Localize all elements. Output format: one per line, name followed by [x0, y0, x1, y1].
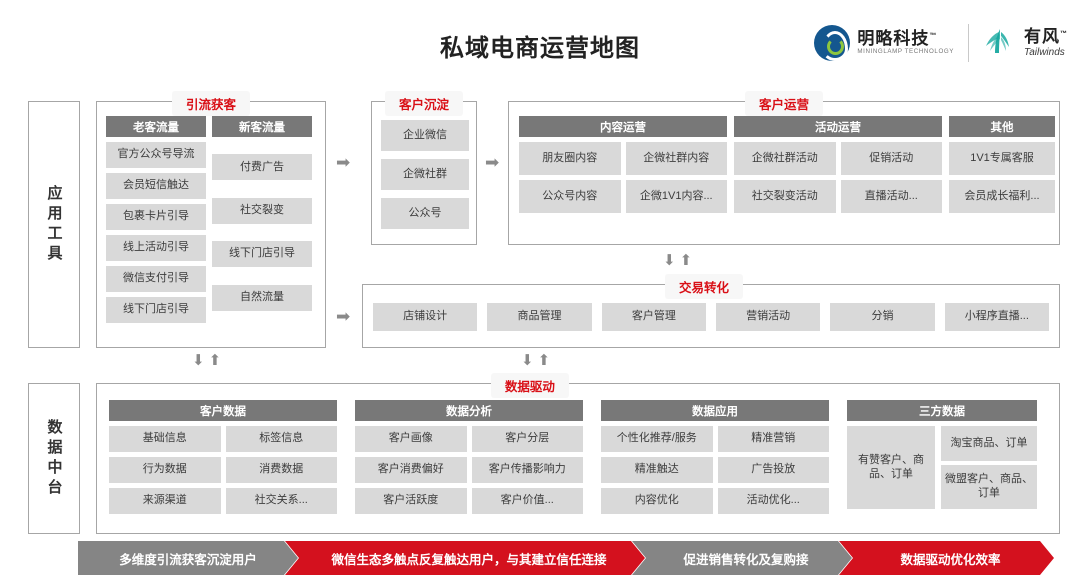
data-item[interactable]: 广告投放 — [718, 457, 830, 483]
row-label-data-text: 数据中台 — [44, 419, 65, 499]
data-item[interactable]: 活动优化... — [718, 488, 830, 514]
arrow-pair-apps-data-left: ⬇ ⬆ — [192, 353, 221, 368]
arrow-pair-apps-data-right: ⬇ ⬆ — [521, 353, 550, 368]
acquisition-item[interactable]: 包裹卡片引导 — [106, 204, 206, 230]
data-item[interactable]: 客户分层 — [472, 426, 584, 452]
data-item[interactable]: 个性化推荐/服务 — [601, 426, 713, 452]
ribbon-step-2[interactable]: 微信生态多触点反复触达用户，与其建立信任连接 — [285, 541, 645, 575]
data-item[interactable]: 客户活跃度 — [355, 488, 467, 514]
panel-transaction: 交易转化 店铺设计 商品管理 客户管理 营销活动 分销 小程序直播... — [362, 284, 1060, 348]
trademark-icon-2: ™ — [1060, 31, 1068, 38]
operation-group-content: 内容运营 朋友圈内容 企微社群内容 公众号内容 企微1V1内容... — [519, 116, 727, 213]
panel-data-driven: 数据驱动 客户数据 基础信息 标签信息 行为数据 消费数据 来源渠道 社交关系.… — [96, 383, 1060, 534]
data-block-application-header: 数据应用 — [601, 400, 829, 421]
acquisition-item[interactable]: 官方公众号导流 — [106, 142, 206, 168]
transaction-item[interactable]: 店铺设计 — [373, 303, 477, 331]
logo-divider — [968, 24, 969, 62]
operation-group-other: 其他 1V1专属客服 会员成长福利... — [949, 116, 1055, 213]
acquisition-item[interactable]: 微信支付引导 — [106, 266, 206, 292]
ribbon-step-4[interactable]: 数据驱动优化效率 — [839, 541, 1054, 575]
panel-acquisition-title: 引流获客 — [172, 91, 250, 116]
arrow-down-icon: ⬇ — [521, 353, 534, 368]
tailwinds-logo-icon — [983, 26, 1017, 60]
data-block-customer: 客户数据 基础信息 标签信息 行为数据 消费数据 来源渠道 社交关系... — [109, 400, 337, 514]
operation-group-other-header: 其他 — [949, 116, 1055, 137]
precipitation-item[interactable]: 企微社群 — [381, 159, 469, 190]
row-label-apps: 应用工具 — [28, 101, 80, 348]
trademark-icon: ™ — [929, 33, 937, 40]
data-item[interactable]: 消费数据 — [226, 457, 338, 483]
operation-item[interactable]: 企微社群内容 — [626, 142, 728, 175]
arrow-right-icon: ➡ — [485, 154, 499, 171]
data-item[interactable]: 精准触达 — [601, 457, 713, 483]
precipitation-item[interactable]: 企业微信 — [381, 120, 469, 151]
mininglamp-subtitle: MININGLAMP TECHNOLOGY — [857, 49, 954, 56]
data-item[interactable]: 客户价值... — [472, 488, 584, 514]
arrow-right-icon: ➡ — [336, 308, 350, 325]
arrow-down-icon: ⬇ — [192, 353, 205, 368]
data-item[interactable]: 客户消费偏好 — [355, 457, 467, 483]
operation-item[interactable]: 朋友圈内容 — [519, 142, 621, 175]
operation-item[interactable]: 公众号内容 — [519, 180, 621, 213]
data-item[interactable]: 来源渠道 — [109, 488, 221, 514]
row-label-apps-text: 应用工具 — [44, 185, 65, 265]
precipitation-item[interactable]: 公众号 — [381, 198, 469, 229]
data-block-analysis: 数据分析 客户画像 客户分层 客户消费偏好 客户传播影响力 客户活跃度 客户价值… — [355, 400, 583, 514]
panel-data-driven-title: 数据驱动 — [491, 373, 569, 398]
data-item[interactable]: 精准营销 — [718, 426, 830, 452]
arrow-up-icon: ⬆ — [538, 353, 551, 368]
panel-transaction-title: 交易转化 — [665, 274, 743, 299]
acquisition-item[interactable]: 社交裂变 — [212, 198, 312, 224]
process-ribbon: 多维度引流获客沉淀用户 微信生态多触点反复触达用户，与其建立信任连接 促进销售转… — [78, 541, 1041, 575]
acquisition-col-old: 老客流量 官方公众号导流 会员短信触达 包裹卡片引导 线上活动引导 微信支付引导… — [106, 116, 206, 323]
acquisition-col-new-header: 新客流量 — [212, 116, 312, 137]
acquisition-item[interactable]: 线下门店引导 — [106, 297, 206, 323]
arrow-right-icon: ➡ — [336, 154, 350, 171]
transaction-item[interactable]: 小程序直播... — [945, 303, 1049, 331]
logo-group: 明略科技™ MININGLAMP TECHNOLOGY 有风™ Tailwind… — [814, 24, 1068, 62]
data-item[interactable]: 客户画像 — [355, 426, 467, 452]
data-item[interactable]: 行为数据 — [109, 457, 221, 483]
operation-group-content-header: 内容运营 — [519, 116, 727, 137]
acquisition-item[interactable]: 付费广告 — [212, 154, 312, 180]
arrow-up-icon: ⬆ — [680, 253, 693, 268]
operation-item[interactable]: 会员成长福利... — [949, 180, 1055, 213]
transaction-item[interactable]: 商品管理 — [487, 303, 591, 331]
acquisition-item[interactable]: 线上活动引导 — [106, 235, 206, 261]
acquisition-col-old-header: 老客流量 — [106, 116, 206, 137]
data-block-application: 数据应用 个性化推荐/服务 精准营销 精准触达 广告投放 内容优化 活动优化..… — [601, 400, 829, 514]
tailwinds-subtitle: Tailwinds — [1024, 47, 1068, 58]
arrow-down-icon: ⬇ — [663, 253, 676, 268]
row-label-data: 数据中台 — [28, 383, 80, 534]
logo-mininglamp: 明略科技™ MININGLAMP TECHNOLOGY — [814, 25, 954, 61]
acquisition-item[interactable]: 自然流量 — [212, 285, 312, 311]
data-item[interactable]: 客户传播影响力 — [472, 457, 584, 483]
data-block-analysis-header: 数据分析 — [355, 400, 583, 421]
panel-precipitation-title: 客户沉淀 — [385, 91, 463, 116]
transaction-item[interactable]: 客户管理 — [602, 303, 706, 331]
arrow-up-icon: ⬆ — [209, 353, 222, 368]
operation-group-activity-header: 活动运营 — [734, 116, 942, 137]
data-item[interactable]: 基础信息 — [109, 426, 221, 452]
panel-operation: 客户运营 内容运营 朋友圈内容 企微社群内容 公众号内容 企微1V1内容... … — [508, 101, 1060, 245]
thirdparty-item-youzan[interactable]: 有赞客户、商品、订单 — [847, 426, 935, 509]
panel-acquisition: 引流获客 老客流量 官方公众号导流 会员短信触达 包裹卡片引导 线上活动引导 微… — [96, 101, 326, 348]
arrow-pair-operation-transaction: ⬇ ⬆ — [663, 253, 692, 268]
operation-item[interactable]: 促销活动 — [841, 142, 943, 175]
data-block-thirdparty: 三方数据 有赞客户、商品、订单 淘宝商品、订单 微盟客户、商品、订单 — [847, 400, 1037, 514]
tailwinds-name: 有风 — [1024, 27, 1060, 46]
logo-tailwinds: 有风™ Tailwinds — [983, 26, 1068, 60]
ribbon-step-1[interactable]: 多维度引流获客沉淀用户 — [78, 541, 298, 575]
operation-group-activity: 活动运营 企微社群活动 促销活动 社交裂变活动 直播活动... — [734, 116, 942, 213]
data-item[interactable]: 内容优化 — [601, 488, 713, 514]
transaction-item[interactable]: 分销 — [830, 303, 934, 331]
operation-item[interactable]: 社交裂变活动 — [734, 180, 836, 213]
data-item[interactable]: 社交关系... — [226, 488, 338, 514]
acquisition-col-new: 新客流量 付费广告 社交裂变 线下门店引导 自然流量 — [212, 116, 312, 323]
operation-item[interactable]: 1V1专属客服 — [949, 142, 1055, 175]
transaction-item[interactable]: 营销活动 — [716, 303, 820, 331]
operation-item[interactable]: 直播活动... — [841, 180, 943, 213]
data-item[interactable]: 标签信息 — [226, 426, 338, 452]
data-block-customer-header: 客户数据 — [109, 400, 337, 421]
acquisition-item[interactable]: 线下门店引导 — [212, 241, 312, 267]
thirdparty-item-weimob[interactable]: 微盟客户、商品、订单 — [941, 465, 1037, 509]
panel-precipitation: 客户沉淀 企业微信 企微社群 公众号 — [371, 101, 477, 245]
mininglamp-name: 明略科技 — [857, 29, 929, 48]
ribbon-step-3[interactable]: 促进销售转化及复购接 — [632, 541, 852, 575]
panel-operation-title: 客户运营 — [745, 91, 823, 116]
data-block-thirdparty-header: 三方数据 — [847, 400, 1037, 421]
operation-item[interactable]: 企微社群活动 — [734, 142, 836, 175]
operation-item[interactable]: 企微1V1内容... — [626, 180, 728, 213]
mininglamp-logo-icon — [814, 25, 850, 61]
thirdparty-item-taobao[interactable]: 淘宝商品、订单 — [941, 426, 1037, 461]
acquisition-item[interactable]: 会员短信触达 — [106, 173, 206, 199]
